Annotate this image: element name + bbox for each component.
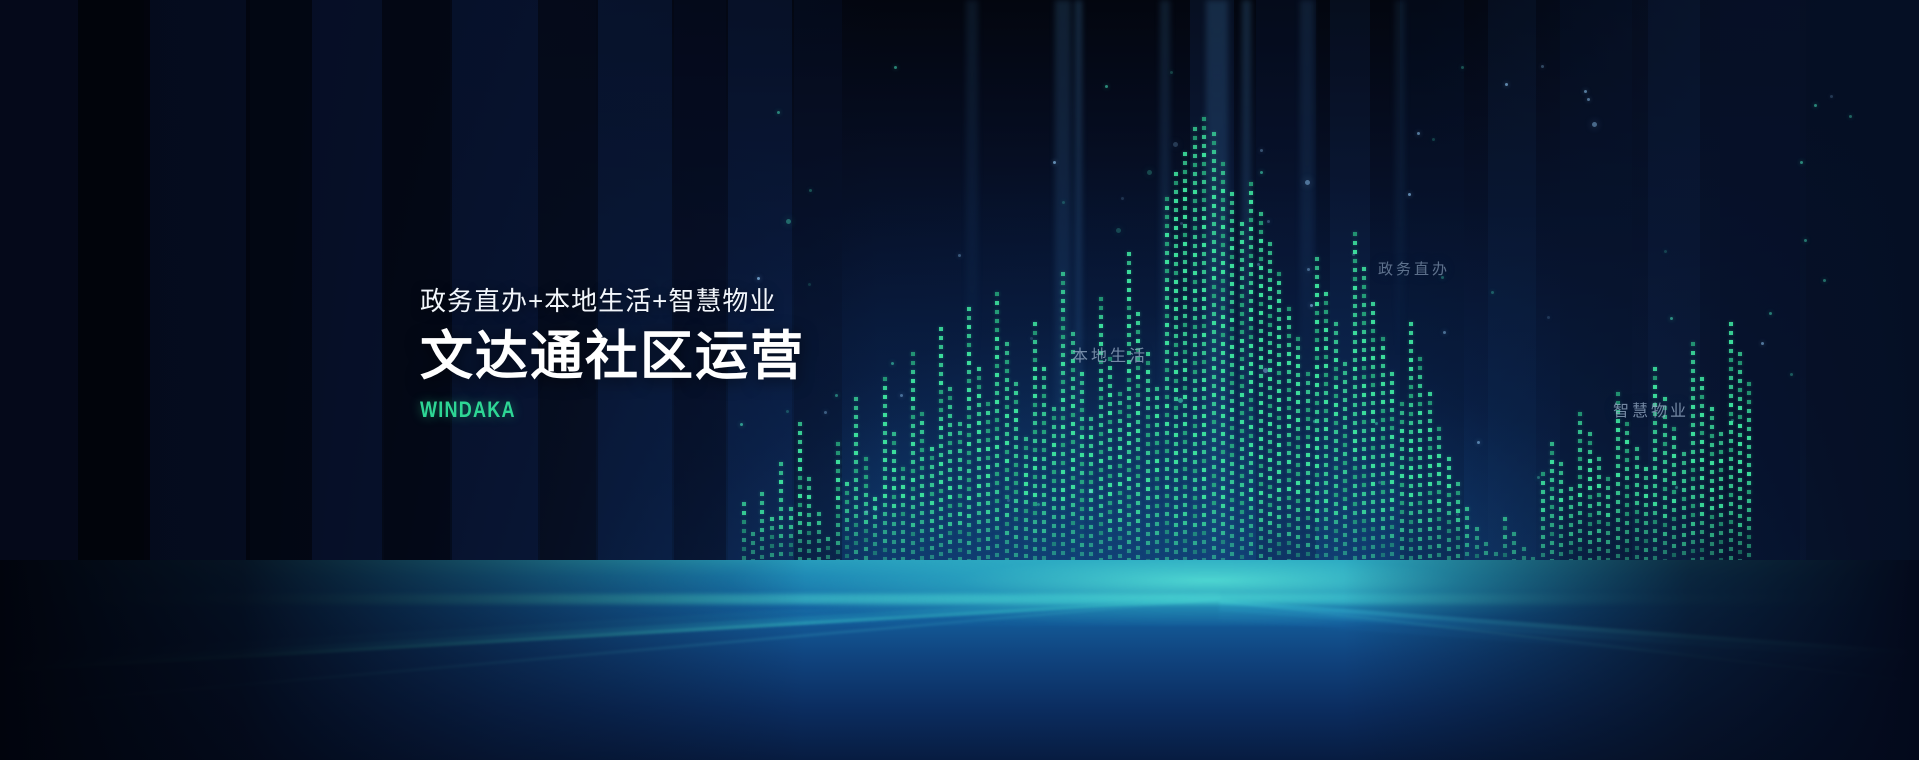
particle-dot	[1307, 268, 1310, 271]
particle-dot	[900, 394, 903, 397]
particle-dot	[1170, 71, 1173, 74]
particle-dot	[1761, 342, 1764, 345]
particle-dot	[1675, 486, 1678, 489]
particle-dot	[1180, 222, 1183, 225]
particle-dot	[1584, 90, 1587, 93]
particle-dot	[1178, 398, 1183, 403]
particle-dot	[874, 508, 877, 511]
particle-dot	[1790, 373, 1793, 376]
particle-dot	[1814, 104, 1817, 107]
particle-dot	[777, 111, 780, 114]
particle-dot	[1491, 291, 1494, 294]
particle-dot	[1443, 331, 1446, 334]
depth-label-1: 政务直办	[1378, 258, 1450, 279]
particle-dot	[1592, 122, 1597, 127]
particle-dot	[1263, 368, 1268, 373]
particle-dot	[1505, 83, 1508, 86]
particle-dot	[1547, 316, 1550, 319]
ground-left-vignette	[0, 560, 806, 760]
particle-dot	[1804, 239, 1807, 242]
banner-subtitle: 政务直办+本地生活+智慧物业	[420, 288, 805, 314]
particle-dot	[1849, 115, 1852, 118]
particle-dot	[1062, 201, 1065, 204]
particle-dot	[894, 66, 897, 69]
particle-dot	[1541, 65, 1544, 68]
particle-dot	[1313, 420, 1316, 423]
depth-label-2: 本地生活	[1072, 342, 1148, 366]
particle-dot	[1310, 304, 1313, 307]
particle-dot	[1173, 142, 1178, 147]
particle-dot	[1477, 441, 1480, 444]
particle-dot	[1537, 476, 1540, 479]
particle-dot	[1257, 263, 1260, 266]
particle-dot	[1664, 250, 1667, 253]
banner-title: 文达通社区运营	[420, 330, 805, 383]
depth-label-3: 智慧物业	[1613, 397, 1689, 421]
particle-dot	[1417, 132, 1420, 135]
particle-dot	[1823, 279, 1826, 282]
perspective-ground	[0, 560, 1919, 760]
particle-dot	[1456, 513, 1459, 516]
particle-dot	[1305, 180, 1310, 185]
banner-root: 政务直办本地生活智慧物业 政务直办+本地生活+智慧物业 文达通社区运营 WIND…	[0, 0, 1919, 760]
particle-dot	[865, 510, 868, 513]
particle-dot	[1089, 490, 1092, 493]
particle-dot	[1352, 253, 1355, 256]
particle-dot	[1053, 161, 1056, 164]
particle-dot	[757, 277, 760, 280]
particle-dot	[1670, 317, 1673, 320]
particle-dot	[1432, 138, 1435, 141]
particle-dot	[1007, 499, 1010, 502]
particle-dot	[1731, 419, 1734, 422]
particle-dot	[1800, 161, 1803, 164]
brand-wordmark: WINDAKA	[420, 397, 736, 423]
particle-dot	[1121, 197, 1124, 200]
particle-dot	[808, 283, 811, 286]
particle-dot	[1830, 95, 1833, 98]
particle-dot	[1587, 98, 1590, 101]
particle-dot	[809, 189, 812, 192]
particle-dot	[1375, 422, 1378, 425]
particle-dot	[1147, 170, 1152, 175]
particle-dot	[740, 423, 743, 426]
particle-dot	[1037, 503, 1040, 506]
particle-dot	[1378, 481, 1381, 484]
particle-dot	[1267, 220, 1270, 223]
particle-dot	[1769, 312, 1772, 315]
particle-dot	[1260, 149, 1263, 152]
particle-dot	[1030, 337, 1033, 340]
particle-dot	[958, 254, 961, 257]
particle-dot	[1461, 66, 1464, 69]
particle-dot	[1105, 85, 1108, 88]
particle-dot	[891, 362, 894, 365]
particle-dot	[786, 219, 791, 224]
particle-dot	[1260, 171, 1263, 174]
particle-dot	[1408, 193, 1411, 196]
particle-dot	[835, 394, 838, 397]
ground-right-vignette	[1343, 560, 1919, 760]
particle-dot	[824, 411, 827, 414]
particle-dot	[1116, 228, 1121, 233]
headline-block: 政务直办+本地生活+智慧物业 文达通社区运营 WINDAKA	[420, 288, 805, 423]
